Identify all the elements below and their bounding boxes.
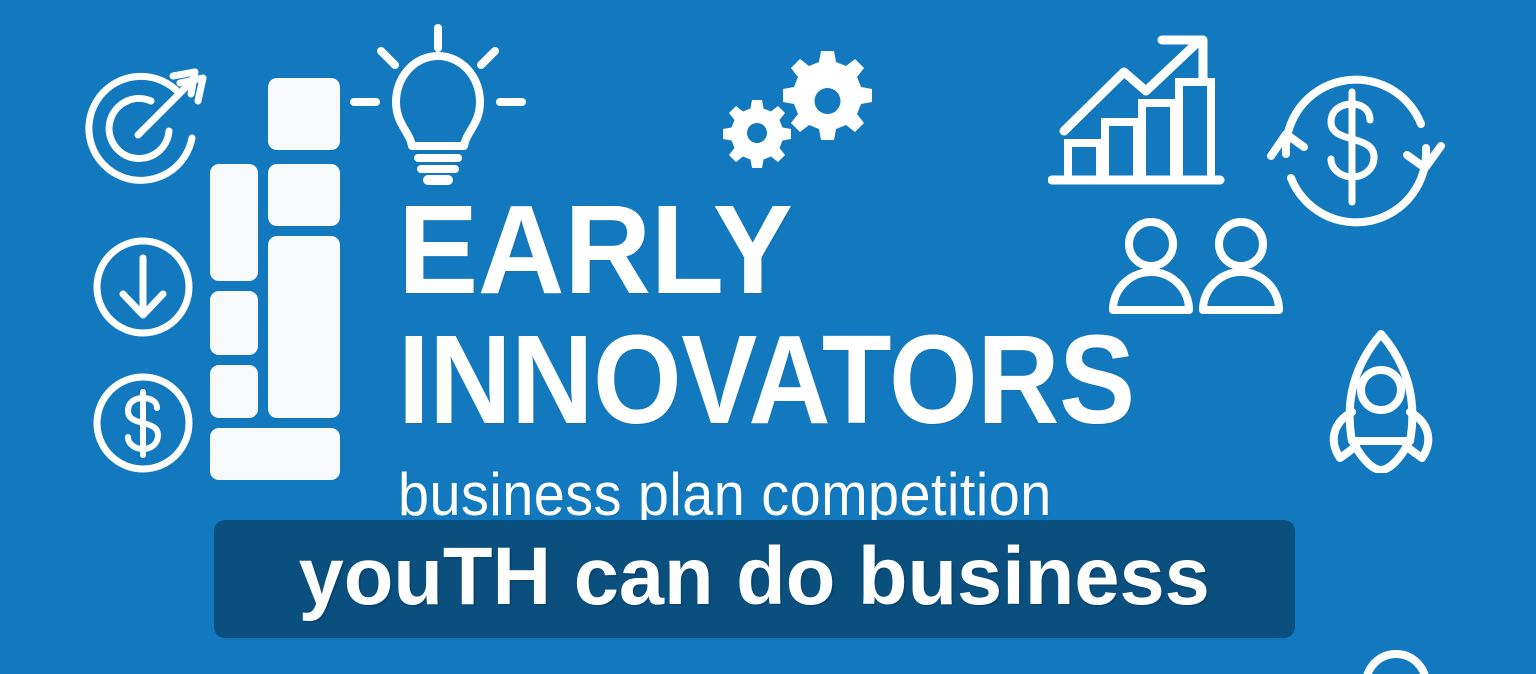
rocket-icon — [1316, 328, 1446, 473]
tile-block — [210, 164, 258, 281]
lightbulb-icon — [348, 16, 528, 196]
target-arrow-icon — [70, 54, 215, 199]
tile-block — [210, 291, 258, 355]
tile-block — [268, 78, 340, 150]
dollar-circular-arrows-icon — [1266, 62, 1446, 232]
growth-bar-chart-arrow-icon — [1048, 28, 1228, 193]
tile-block — [268, 236, 340, 418]
building-blocks-tiles-icon — [210, 78, 340, 460]
tile-block — [210, 365, 258, 418]
title-line-innovators: INNOVATORS — [398, 320, 1113, 441]
tile-block — [268, 164, 340, 226]
dollar-circle-icon — [90, 370, 196, 476]
partial-circle-icon — [1350, 640, 1470, 674]
poster-canvas: EARLY INNOVATORS business plan competiti… — [0, 0, 1536, 674]
slogan-banner: youTH can do business — [214, 520, 1295, 638]
tile-block — [210, 428, 340, 480]
title-line-early: EARLY — [398, 190, 1152, 311]
gears-icon — [714, 48, 874, 178]
wordmark: EARLY INNOVATORS business plan competiti… — [398, 190, 1188, 525]
down-arrow-circle-icon — [90, 234, 196, 340]
slogan-text: youTH can do business — [299, 536, 1210, 618]
tagline: business plan competition — [398, 465, 1133, 525]
